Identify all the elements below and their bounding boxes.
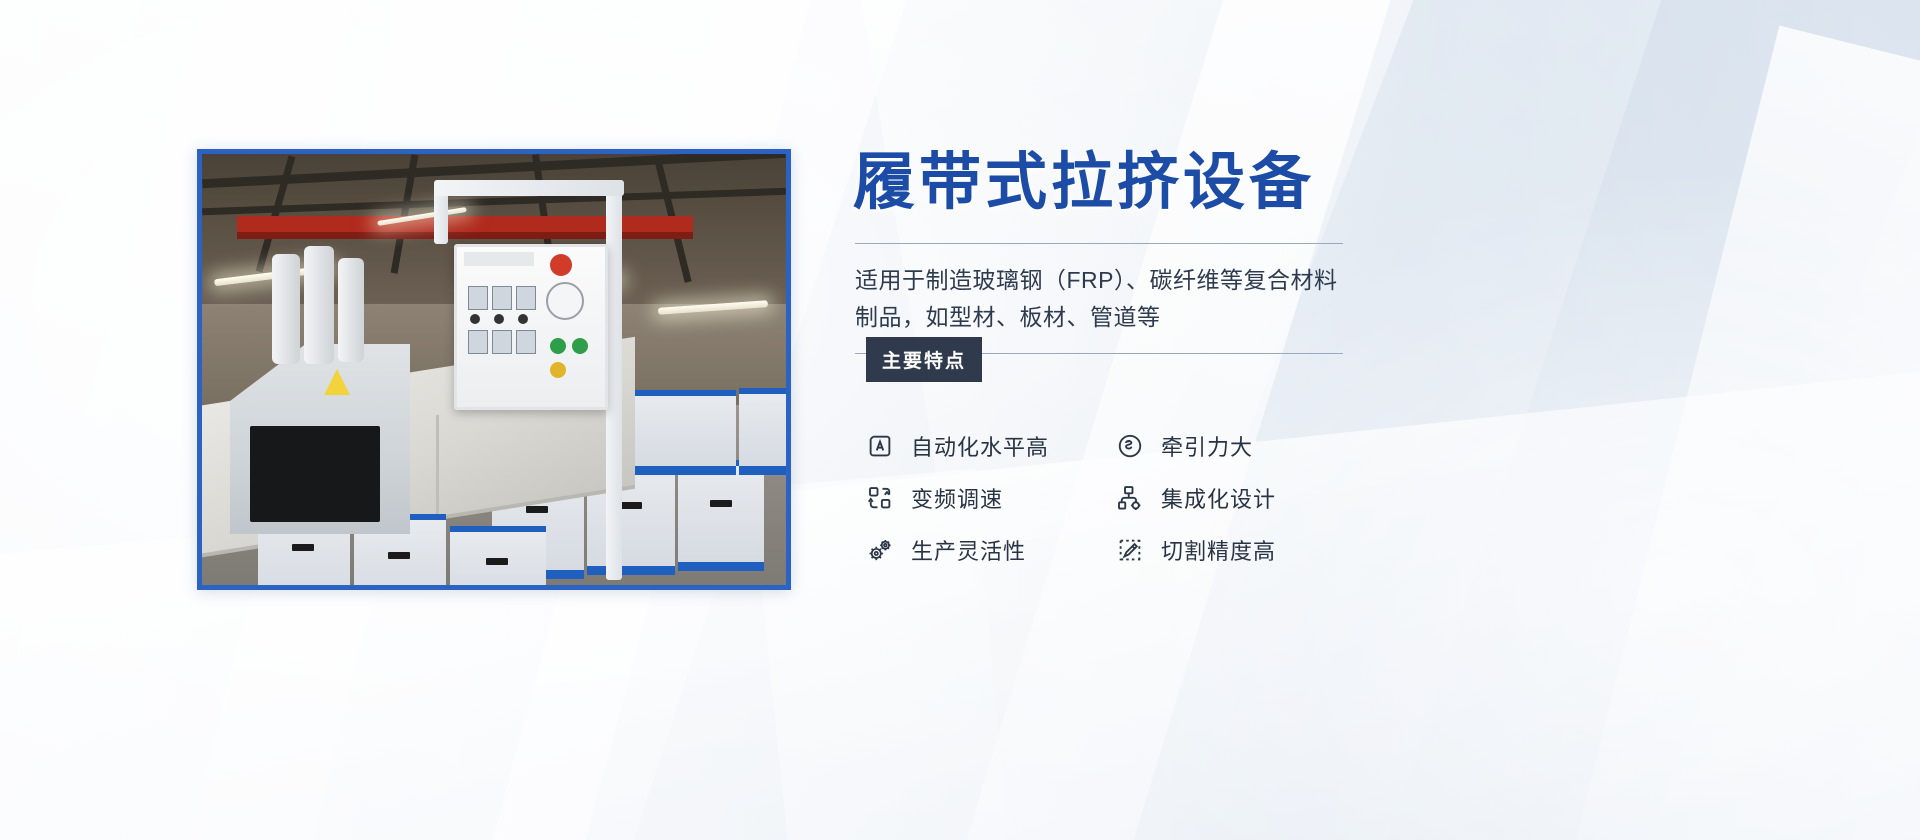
feature-label: 变频调速 [911, 482, 1003, 514]
feature-item-frequency: 变频调速 [863, 472, 1113, 524]
product-photo [197, 149, 791, 590]
feature-item-traction: 牵引力大 [1113, 420, 1363, 472]
product-photo-image [202, 154, 786, 585]
automation-icon [863, 429, 897, 463]
feature-label: 生产灵活性 [911, 534, 1026, 566]
feature-label: 集成化设计 [1161, 482, 1276, 514]
frequency-conversion-icon [863, 481, 897, 515]
banner-content: 履带式拉挤设备 适用于制造玻璃钢（FRP）、碳纤维等复合材料制品，如型材、板材、… [853, 150, 1413, 576]
feature-item-flexibility: 生产灵活性 [863, 524, 1113, 576]
feature-list: 自动化水平高 牵引力大 [863, 420, 1363, 576]
traction-force-icon [1113, 429, 1147, 463]
feature-item-cutting: 切割精度高 [1113, 524, 1363, 576]
feature-label: 切割精度高 [1161, 534, 1276, 566]
divider-top [855, 243, 1343, 244]
page-title: 履带式拉挤设备 [853, 150, 1413, 215]
gears-flexibility-icon [863, 533, 897, 567]
feature-label: 牵引力大 [1161, 430, 1253, 462]
feature-label: 自动化水平高 [911, 430, 1049, 462]
banner-subtitle: 适用于制造玻璃钢（FRP）、碳纤维等复合材料制品，如型材、板材、管道等 [855, 262, 1341, 337]
feature-row: 自动化水平高 牵引力大 [863, 420, 1363, 472]
product-banner: 履带式拉挤设备 适用于制造玻璃钢（FRP）、碳纤维等复合材料制品，如型材、板材、… [0, 0, 1920, 840]
feature-item-automation: 自动化水平高 [863, 420, 1113, 472]
cutting-precision-icon [1113, 533, 1147, 567]
feature-item-integrated: 集成化设计 [1113, 472, 1363, 524]
integrated-design-icon [1113, 481, 1147, 515]
feature-row: 变频调速 集成化设计 [863, 472, 1363, 524]
feature-row: 生产灵活性 切割精度高 [863, 524, 1363, 576]
main-features-badge: 主要特点 [866, 337, 982, 382]
